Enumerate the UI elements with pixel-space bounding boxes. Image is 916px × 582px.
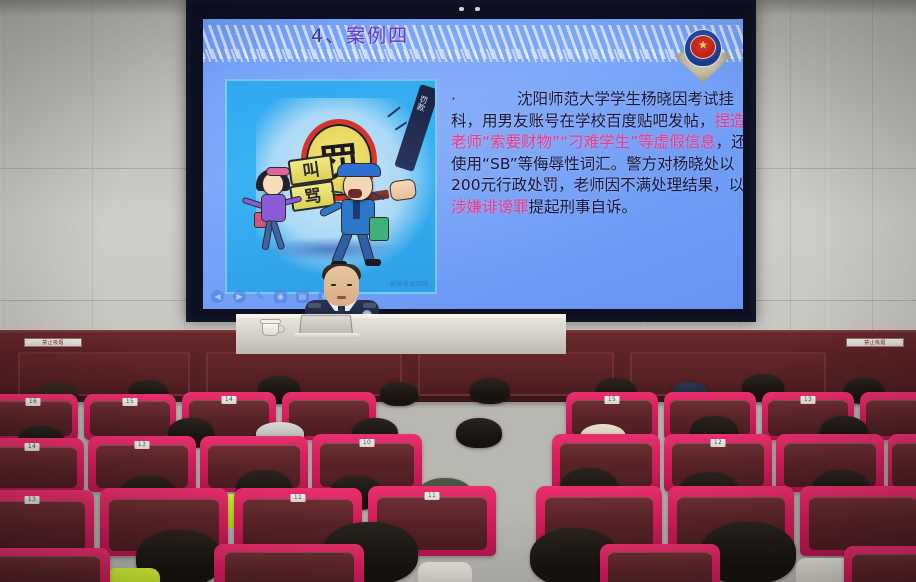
seat-pad [0,447,77,488]
seat[interactable] [860,392,916,440]
figure-cap [266,167,290,176]
slide-title-number: 4、 [311,25,346,47]
projection-screen[interactable]: 4、案例四 ★ 罚 [186,0,756,322]
seat-number: 15 [605,396,620,404]
seat-number: 12 [711,439,726,447]
seat-pad [809,497,916,550]
wall-sign: 禁止吸烟 [24,338,82,347]
officer-head [324,266,359,306]
seat-number: 13 [135,441,150,449]
china-police-badge-icon: ★ [675,27,731,85]
wall-seam [92,0,93,352]
pen-tool-icon[interactable]: ✎ [255,290,265,303]
screen-indicator-dot [459,7,464,11]
seat-number: 13 [25,496,40,504]
wall-seam [184,0,185,352]
seat-pad [608,552,711,582]
seat[interactable]: 14 [0,438,84,492]
slide-title: 4、案例四 [311,21,409,48]
slide-body-text: · 沈阳师范大学学生杨晓因考试挂科，用男友账号在学校百度贴吧发帖，捏造老师“索要… [451,89,743,218]
wall-sign-text: 禁止吸烟 [25,339,81,348]
slide-body-seg-5: 提起刑事自诉。 [529,198,638,216]
officer-eye [347,284,352,286]
seat[interactable] [888,434,916,492]
seat-number: 11 [425,492,440,500]
figure-leg [269,220,285,251]
seat[interactable]: 13 [0,490,94,556]
officer-epaulette [308,303,321,308]
audience-head [380,382,418,406]
seat-pad [225,552,354,582]
seat-pad [0,556,100,582]
slide-title-text: 案例四 [346,25,409,47]
powerpoint-slide[interactable]: 4、案例四 ★ 罚 [203,19,743,309]
seat-pad [852,554,916,582]
seat-pad [90,401,169,436]
seat[interactable]: 15 [84,394,176,440]
seat-number: 15 [123,398,138,406]
seat-number: 16 [26,398,41,406]
podium-desk [236,316,566,354]
seat-pad [866,400,916,436]
seat-number: 10 [360,439,375,447]
seat-number: 14 [25,443,40,451]
figure-open-mouth [348,189,362,198]
seat-pad [0,501,85,551]
case-illustration: 罚 叫 骂 [225,79,437,294]
audience-safety-vest [106,568,160,582]
officer-mouth [337,296,346,299]
wall-seam [872,0,873,352]
seat-number: 14 [222,396,237,404]
screen-indicator-dot [475,7,480,11]
seat[interactable] [600,544,720,582]
teacup-lid [260,319,281,324]
cartoon-student-figure [252,172,304,258]
officer-eye [331,284,336,286]
lecture-hall-scene: 4、案例四 ★ 罚 [0,0,916,582]
cartoon-shouting-figure [327,165,399,267]
wall-seam [790,0,791,352]
next-slide-icon[interactable]: ▶ [233,290,246,303]
seat[interactable] [0,548,110,582]
audience-seating: 16 15 14 15 13 14 13 10 12 13 [0,372,916,582]
figure-bag [369,217,389,241]
slide-body-seg-1: 沈阳师范大学学生杨晓因考试挂科，用男友账号在学校百度贴吧发帖， [451,90,734,130]
wall-sign: 禁止吸烟 [846,338,904,347]
figure-tie [353,201,360,219]
seat[interactable] [844,546,916,582]
badge-shield: ★ [684,29,722,67]
slide-body-seg-0: · [451,90,456,108]
title-stripe-band-lower [203,49,743,62]
seat-number: 11 [291,494,306,502]
audience-head [456,418,502,448]
figure-torso [261,194,286,222]
seat-number: 13 [801,396,816,404]
pointer-options-icon[interactable]: ◉ [274,290,287,303]
teacup [262,322,279,336]
badge-inner-disc: ★ [690,35,716,59]
figure-shoe [365,259,381,266]
seat[interactable] [214,544,364,582]
seat-pad [892,443,916,487]
audience-torso [418,562,472,582]
wall-sign-text: 禁止吸烟 [847,339,903,348]
laptop-base[interactable] [294,333,360,339]
illustration-watermark: 插画来源网络 [390,279,429,288]
previous-slide-icon[interactable]: ◀ [211,290,224,303]
slide-body-highlight-2: 涉嫌诽谤罪 [451,198,529,216]
audience-head [470,378,510,404]
figure-hat [337,163,381,177]
badge-star-icon: ★ [698,40,708,51]
officer-epaulette [363,303,376,308]
